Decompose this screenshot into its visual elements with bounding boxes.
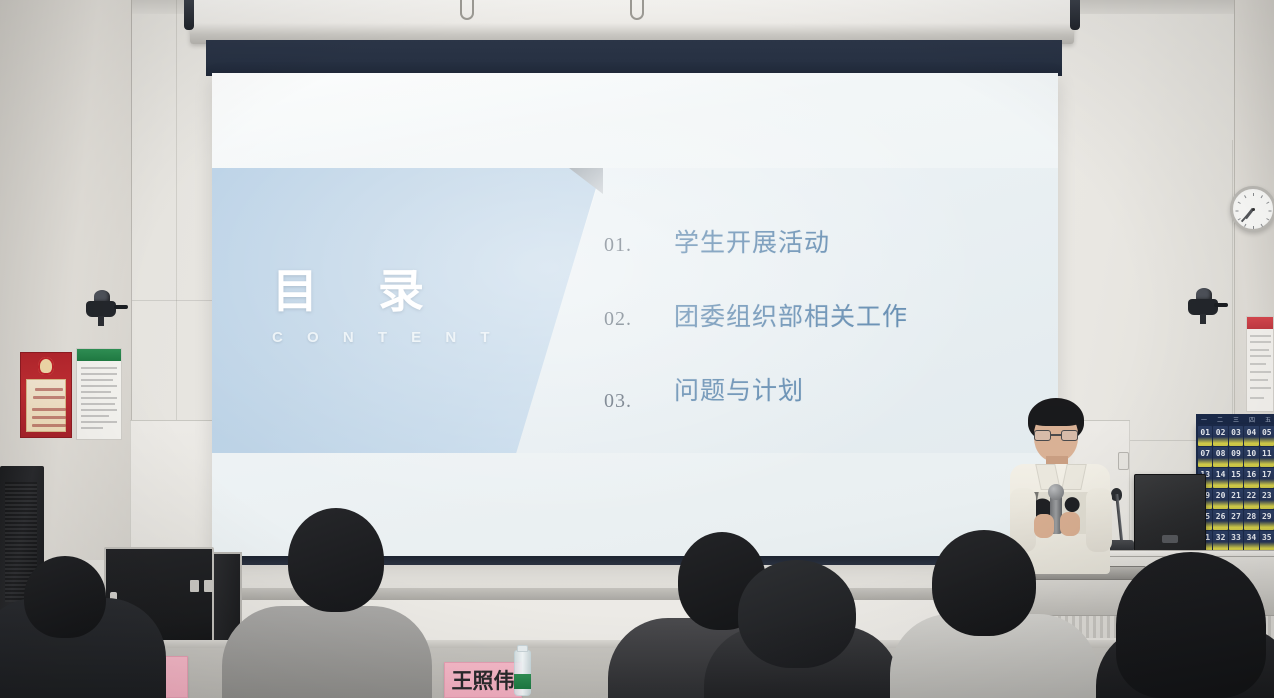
organizer-pocket: 04 xyxy=(1244,426,1258,446)
toc-number: 03. xyxy=(604,390,674,413)
presenter-glasses-icon xyxy=(1034,430,1078,441)
camera-mount-right xyxy=(1200,314,1206,324)
wall-seam xyxy=(132,300,212,301)
podium-loudspeaker xyxy=(1134,474,1206,552)
poster-emblem-icon xyxy=(38,357,54,375)
organizer-pocket: 16 xyxy=(1244,468,1258,488)
organizer-pocket: 17 xyxy=(1260,468,1274,488)
organizer-pocket: 21 xyxy=(1229,489,1243,509)
toc-item: 02. 团委组织部相关工作 xyxy=(604,297,1024,333)
slide: 目 录 C O N T E N T 01. 学生开展活动 02. 团委组织部相关… xyxy=(212,73,1058,560)
organizer-pocket: 27 xyxy=(1229,510,1243,530)
organizer-pocket: 23 xyxy=(1260,489,1274,509)
audience-head xyxy=(932,530,1036,636)
poster-header-band xyxy=(77,349,121,361)
presenter-hand-right xyxy=(1060,512,1080,536)
organizer-pocket: 29 xyxy=(1260,510,1274,530)
audience-head-long-hair xyxy=(1116,552,1266,698)
organizer-pocket: 05 xyxy=(1260,426,1274,446)
pink-notice-poster xyxy=(1246,316,1274,412)
toc-number: 01. xyxy=(604,234,674,257)
slide-title-en: C O N T E N T xyxy=(272,329,532,346)
organizer-pocket: 03 xyxy=(1229,426,1243,446)
organizer-pocket: 26 xyxy=(1213,510,1227,530)
audience-shoulders xyxy=(222,606,432,698)
casing-bracket-right xyxy=(1070,0,1080,30)
projector-screen-topbar xyxy=(206,40,1062,76)
wall-clock xyxy=(1230,186,1274,232)
phone-pocket-organizer: 0102030405070809101113141516171920212223… xyxy=(1196,424,1274,556)
organizer-pocket: 15 xyxy=(1229,468,1243,488)
organizer-pocket: 11 xyxy=(1260,447,1274,467)
casing-hook-left xyxy=(460,0,474,20)
slide-title-block: 目 录 C O N T E N T xyxy=(272,255,532,346)
organizer-col-3: 三 xyxy=(1233,415,1239,424)
flight-case-latch-1 xyxy=(190,580,199,592)
namecard-center-text: 王照伟 xyxy=(452,665,515,695)
organizer-pocket: 02 xyxy=(1213,426,1227,446)
organizer-col-1: 一 xyxy=(1201,415,1207,424)
organizer-pocket: 10 xyxy=(1244,447,1258,467)
audience-head xyxy=(738,560,856,668)
speaker-logo xyxy=(1162,535,1178,543)
camera-mount xyxy=(98,316,104,326)
organizer-pocket: 14 xyxy=(1213,468,1227,488)
organizer-pocket: 09 xyxy=(1229,447,1243,467)
projector-screen-surface: 目 录 C O N T E N T 01. 学生开展活动 02. 团委组织部相关… xyxy=(212,73,1058,560)
organizer-pocket: 34 xyxy=(1244,531,1258,551)
presenter-hair-front xyxy=(1030,406,1082,426)
wall-seam-vertical xyxy=(176,0,177,470)
camera-arm-right xyxy=(1214,303,1228,307)
namecard-center: 王照伟 xyxy=(444,662,522,698)
camera-body-right xyxy=(1188,299,1218,315)
camera-body xyxy=(86,301,116,317)
organizer-pocket: 33 xyxy=(1229,531,1243,551)
toc-label: 问题与计划 xyxy=(674,371,804,407)
poster-header-band-right xyxy=(1247,317,1273,329)
organizer-pocket: 32 xyxy=(1213,531,1227,551)
water-bottle-cap-center xyxy=(517,645,528,652)
organizer-pocket: 22 xyxy=(1244,489,1258,509)
audience-head xyxy=(288,508,384,612)
red-honor-poster xyxy=(20,352,72,438)
toc-label: 学生开展活动 xyxy=(674,223,830,259)
organizer-col-2: 二 xyxy=(1217,415,1223,424)
green-notice-poster xyxy=(76,348,122,440)
slide-title-cn: 目 录 xyxy=(272,255,532,321)
classroom-scene: 目 录 C O N T E N T 01. 学生开展活动 02. 团委组织部相关… xyxy=(0,0,1274,698)
presenter-arm-right xyxy=(1086,488,1112,552)
camera-arm xyxy=(114,305,128,309)
organizer-pocket: 07 xyxy=(1198,447,1212,467)
organizer-pocket: 20 xyxy=(1213,489,1227,509)
toc-item: 01. 学生开展活动 xyxy=(604,223,1024,259)
slide-toc: 01. 学生开展活动 02. 团委组织部相关工作 03. 问题与计划 xyxy=(604,223,1024,445)
flight-case-latch-2 xyxy=(204,580,213,592)
water-bottle-label-center xyxy=(514,674,531,689)
water-bottle-center xyxy=(514,650,531,696)
casing-bracket-left xyxy=(184,0,194,30)
presenter-hand-left xyxy=(1034,514,1054,538)
organizer-col-5: 五 xyxy=(1265,415,1271,424)
organizer-pocket: 28 xyxy=(1244,510,1258,530)
clock-face xyxy=(1235,191,1271,227)
audience-head xyxy=(24,556,106,638)
handheld-mic-head xyxy=(1048,484,1064,500)
organizer-pocket: 01 xyxy=(1198,426,1212,446)
toc-label: 团委组织部相关工作 xyxy=(674,297,908,333)
clock-center-pin xyxy=(1252,208,1255,211)
projector-screen-casing xyxy=(190,0,1074,44)
organizer-pocket: 08 xyxy=(1213,447,1227,467)
toc-number: 02. xyxy=(604,308,674,331)
casing-hook-center xyxy=(630,0,644,20)
organizer-col-4: 四 xyxy=(1249,415,1255,424)
wall-seam-right xyxy=(1232,140,1233,440)
organizer-pocket: 35 xyxy=(1260,531,1274,551)
poster-inner-panel xyxy=(26,379,66,432)
toc-item: 03. 问题与计划 xyxy=(604,371,1024,407)
